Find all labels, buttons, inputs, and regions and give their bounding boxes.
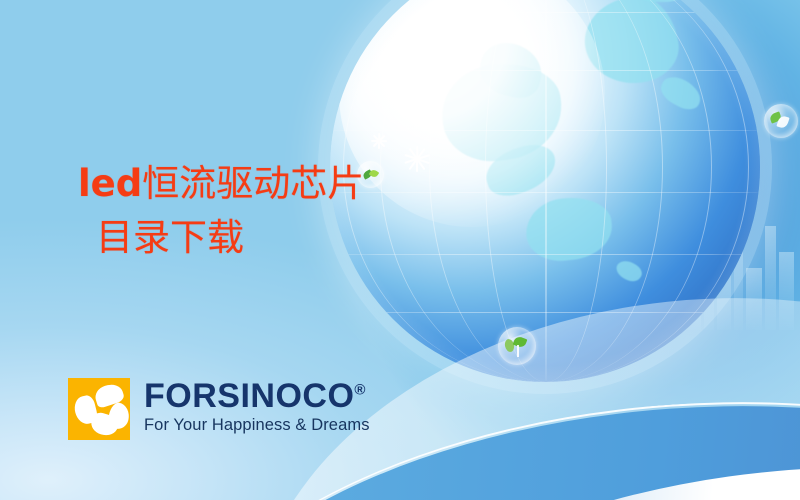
headline-line-1: led恒流驱动芯片 — [78, 162, 364, 206]
brand-name-text: FORSINOCO — [144, 377, 354, 415]
leaf-icon — [513, 335, 528, 349]
leaf-icon — [369, 168, 380, 178]
brand-tagline: For Your Happiness & Dreams — [144, 416, 370, 435]
logo-text-block: FORSINOCO® For Your Happiness & Dreams — [144, 378, 370, 435]
brand-logo: FORSINOCO® For Your Happiness & Dreams — [68, 378, 370, 440]
bubble-with-leaf-icon — [498, 327, 536, 365]
page-title: led恒流驱动芯片 目录下载 — [78, 162, 364, 259]
headline-latin: led — [78, 162, 142, 205]
logo-mark-icon — [68, 378, 130, 440]
headline-cjk: 恒流驱动芯片 — [142, 162, 364, 205]
stem-icon — [517, 345, 519, 357]
headline-line-2: 目录下载 — [96, 216, 364, 260]
sparkle-icon — [371, 133, 387, 149]
sparkle-icon — [404, 146, 430, 172]
poster-canvas: led恒流驱动芯片 目录下载 FORSINOCO® For Your Happi… — [0, 0, 800, 500]
bubble-with-leaf-icon — [764, 104, 798, 138]
registered-trademark-icon: ® — [354, 382, 366, 399]
brand-name: FORSINOCO® — [144, 379, 370, 413]
